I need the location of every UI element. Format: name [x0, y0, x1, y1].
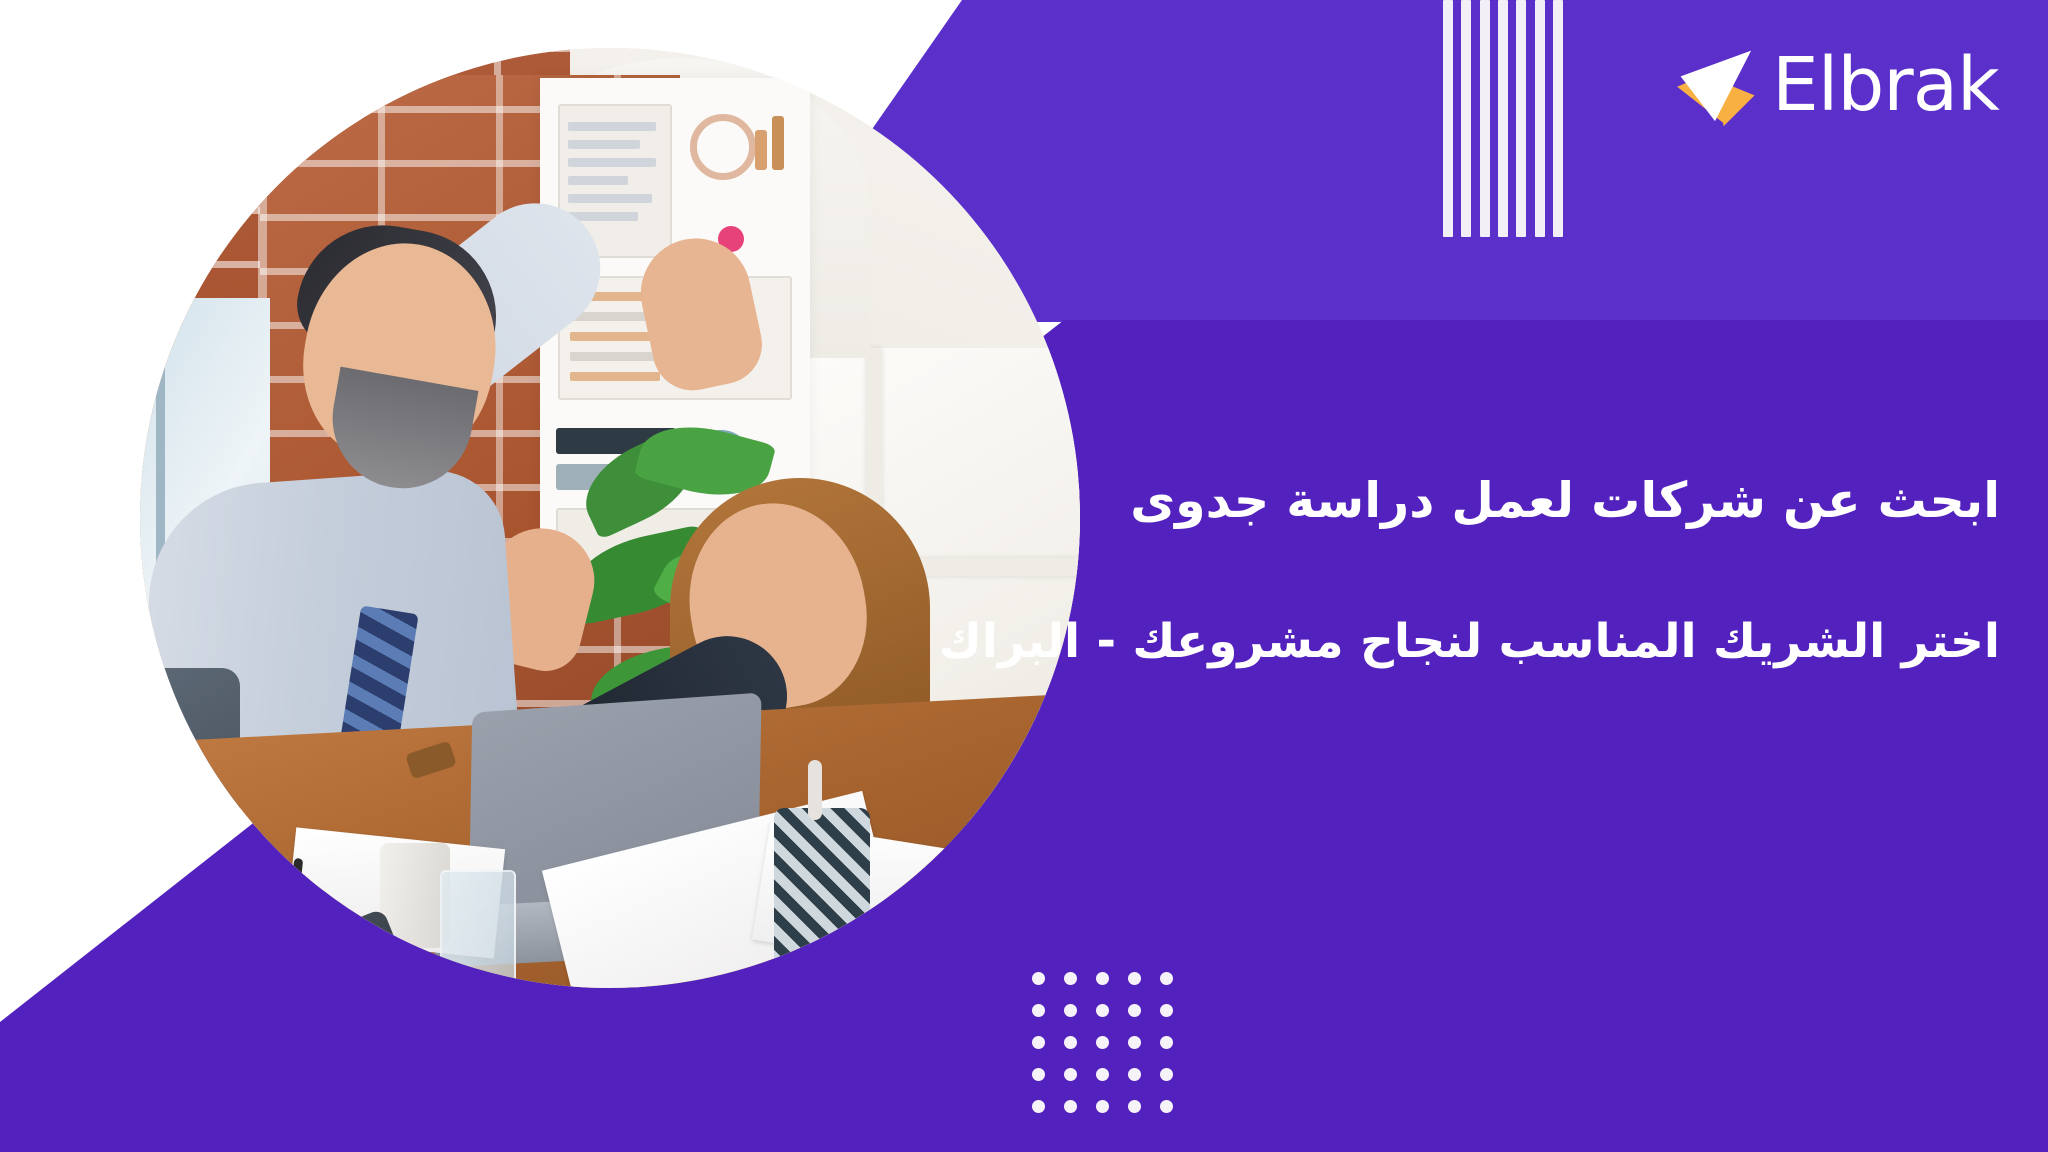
brand-logo[interactable]: Elbrak: [1672, 42, 1999, 128]
decorative-dot: [1032, 1100, 1045, 1113]
water-glass: [440, 870, 516, 988]
decorative-dot: [1096, 1004, 1109, 1017]
decorative-bar: [1461, 0, 1471, 237]
decorative-bar: [1480, 0, 1490, 237]
decorative-dot: [1160, 1100, 1173, 1113]
headline-secondary: اختر الشريك المناسب لنجاح مشروعك - البرا…: [1160, 613, 2000, 672]
headline-block: ابحث عن شركات لعمل دراسة جدوى اختر الشري…: [1160, 470, 2000, 672]
decorative-bar: [1553, 0, 1563, 237]
decorative-dot: [1032, 1004, 1045, 1017]
decorative-dot: [1160, 1068, 1173, 1081]
travel-tumbler: [774, 808, 870, 978]
decorative-vertical-bars: [1443, 0, 1563, 237]
decorative-dot: [1064, 1036, 1077, 1049]
decorative-bar: [1443, 0, 1453, 237]
brand-name: Elbrak: [1772, 48, 1999, 122]
decorative-dot: [1096, 1100, 1109, 1113]
decorative-dot: [1064, 1068, 1077, 1081]
decorative-dot: [1128, 1004, 1141, 1017]
decorative-dot: [1032, 1068, 1045, 1081]
decorative-dot: [1160, 972, 1173, 985]
paper-plane-triangle-icon: [1672, 42, 1758, 128]
decorative-dot: [1096, 1068, 1109, 1081]
promo-banner: Elbrak ابحث عن شركات لعمل دراسة جدوى اخت…: [0, 0, 2048, 1152]
decorative-bar: [1498, 0, 1508, 237]
decorative-bar: [1535, 0, 1545, 237]
decorative-dot: [1160, 1004, 1173, 1017]
decorative-dot: [1032, 1036, 1045, 1049]
decorative-dot: [1128, 1100, 1141, 1113]
decorative-dot: [1064, 972, 1077, 985]
decorative-dot: [1128, 1068, 1141, 1081]
decorative-dot: [1064, 1100, 1077, 1113]
decorative-dot: [1128, 1036, 1141, 1049]
hero-photo: [140, 48, 1080, 988]
decorative-dot: [1064, 1004, 1077, 1017]
headline-primary: ابحث عن شركات لعمل دراسة جدوى: [1160, 470, 2000, 531]
decorative-dot: [1160, 1036, 1173, 1049]
decorative-dot: [1128, 972, 1141, 985]
decorative-dot: [1096, 1036, 1109, 1049]
decorative-bar: [1516, 0, 1526, 237]
photo-scene: [140, 48, 1080, 988]
decorative-dot: [1032, 972, 1045, 985]
decorative-dot: [1096, 972, 1109, 985]
decorative-dot-grid: [1032, 972, 1173, 1113]
